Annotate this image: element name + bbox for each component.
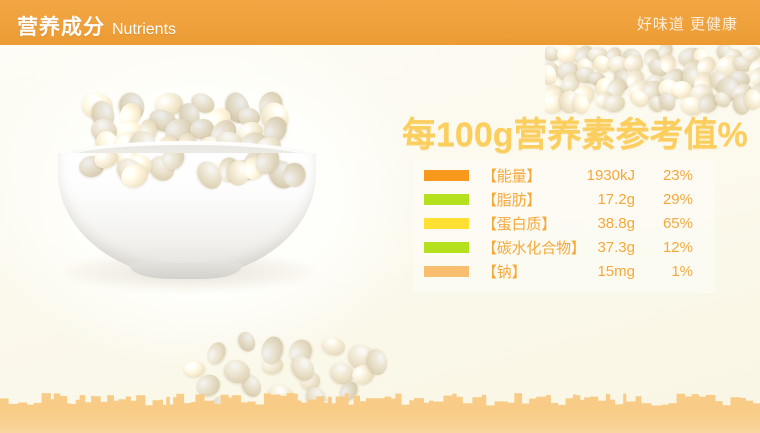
nutrient-percent: 23% [647, 167, 693, 184]
header-title: 营养成分Nutrients [17, 11, 176, 41]
bottom-torn-band [0, 393, 760, 433]
nutrient-percent: 65% [647, 215, 693, 232]
table-row: 【蛋白质】38.8g65% [413, 211, 715, 235]
nutrient-name: 【脂肪】 [482, 189, 570, 210]
soybean [183, 360, 206, 378]
nutrient-percent: 1% [647, 263, 693, 280]
nutrient-name: 【能量】 [482, 165, 570, 186]
color-swatch [424, 170, 469, 181]
table-row: 【能量】1930kJ23% [413, 163, 715, 187]
soybean [320, 334, 347, 357]
soybean [236, 329, 259, 354]
table-row: 【碳水化合物】37.3g12% [413, 235, 715, 259]
nutrient-name: 【蛋白质】 [482, 213, 570, 234]
nutrition-poster: 每100g营养素参考值% 【能量】1930kJ23%【脂肪】17.2g29%【蛋… [0, 0, 760, 433]
table-row: 【脂肪】17.2g29% [413, 187, 715, 211]
photo-stage: 每100g营养素参考值% 【能量】1930kJ23%【脂肪】17.2g29%【蛋… [0, 45, 760, 433]
nutrient-name: 【钠】 [482, 261, 570, 282]
nutrient-percent: 12% [647, 239, 693, 256]
color-swatch [424, 266, 469, 277]
color-swatch [424, 194, 469, 205]
page-title: 每100g营养素参考值% [402, 107, 748, 156]
nutrition-table: 【能量】1930kJ23%【脂肪】17.2g29%【蛋白质】38.8g65%【碳… [413, 163, 715, 283]
header-band: 营养成分Nutrients 好味道 更健康 [0, 0, 760, 45]
nutrient-percent: 29% [647, 191, 693, 208]
scattered-soybeans [0, 45, 420, 385]
nutrient-value: 37.3g [570, 239, 635, 256]
nutrient-value: 17.2g [570, 191, 635, 208]
bottom-band-solid [0, 411, 760, 433]
nutrient-value: 15mg [570, 263, 635, 280]
color-swatch [424, 218, 469, 229]
nutrient-name: 【碳水化合物】 [482, 237, 570, 258]
header-title-cn: 营养成分 [17, 16, 105, 39]
header-tagline: 好味道 更健康 [637, 13, 738, 34]
header-title-en: Nutrients [112, 21, 176, 38]
nutrient-value: 1930kJ [570, 167, 635, 184]
color-swatch [424, 242, 469, 253]
nutrient-value: 38.8g [570, 215, 635, 232]
table-row: 【钠】15mg1% [413, 259, 715, 283]
